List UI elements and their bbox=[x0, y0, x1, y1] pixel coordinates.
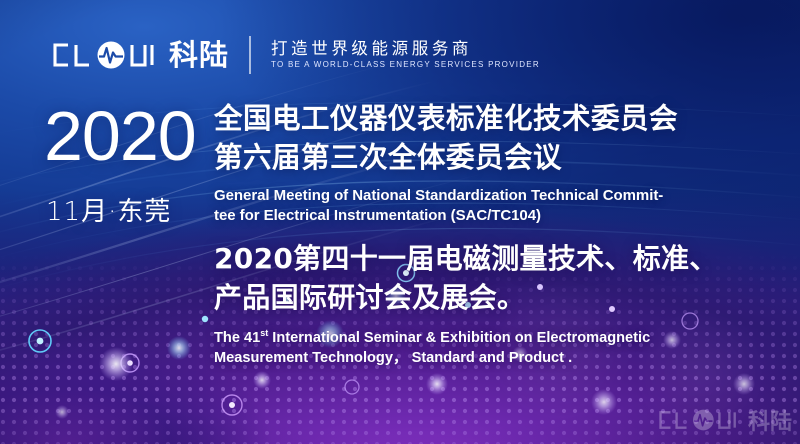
conference-banner: 科陆 打造世界级能源服务商 TO BE A WORLD-CLASS ENERGY… bbox=[0, 0, 800, 444]
vignette-overlay bbox=[0, 0, 800, 444]
